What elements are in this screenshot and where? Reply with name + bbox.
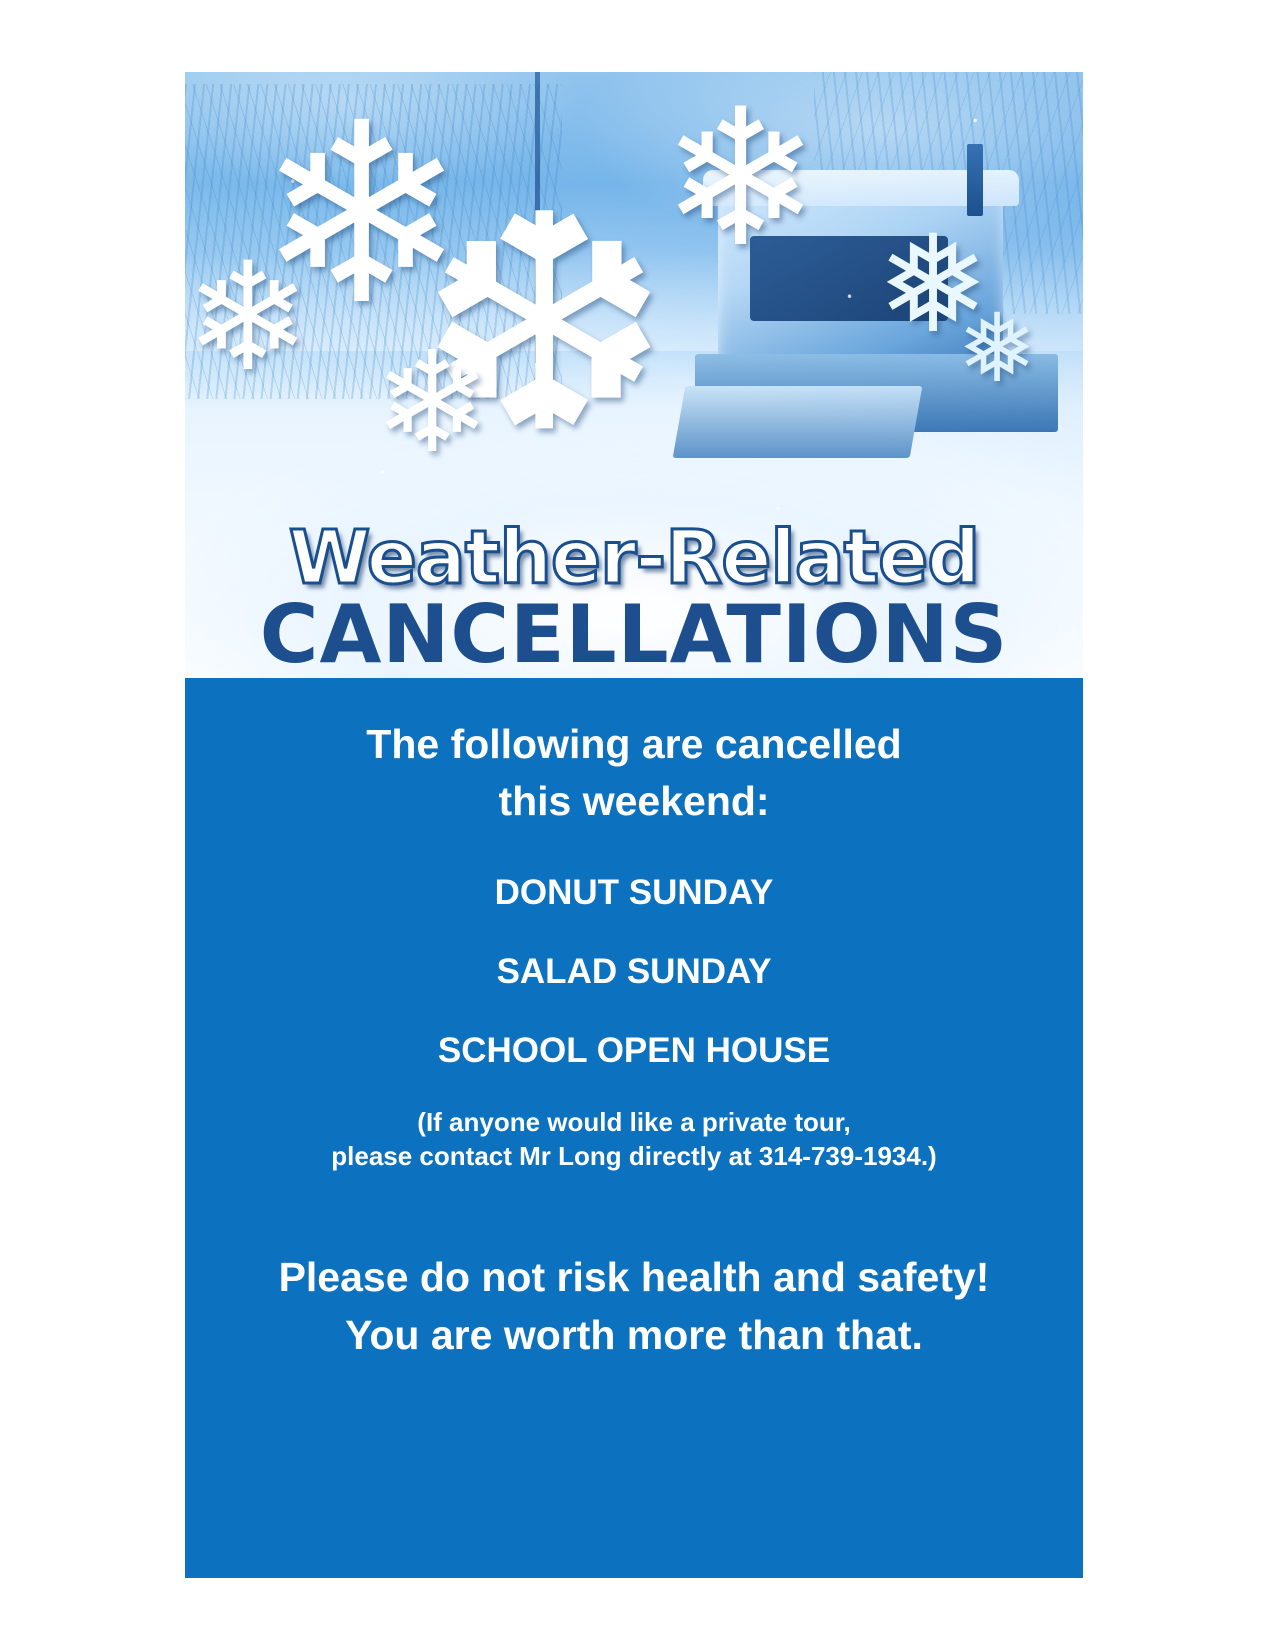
snowflake-icon: ❄ bbox=[661, 84, 820, 274]
list-item: SALAD SUNDAY bbox=[215, 954, 1053, 989]
banner-subtitle: CANCELLATIONS bbox=[199, 594, 1069, 676]
lead-line-1: The following are cancelled bbox=[366, 721, 901, 767]
announcement-panel: The following are cancelled this weekend… bbox=[185, 678, 1083, 1578]
list-item: DONUT SUNDAY bbox=[215, 875, 1053, 910]
cancelled-events-list: DONUT SUNDAY SALAD SUNDAY SCHOOL OPEN HO… bbox=[215, 875, 1053, 1068]
snowflake-icon: ❄ bbox=[185, 242, 311, 392]
closing-line-2: You are worth more than that. bbox=[215, 1306, 1053, 1364]
snowflake-icon: ❄ bbox=[374, 333, 491, 473]
banner-text-block: Weather-Related CANCELLATIONS bbox=[185, 522, 1083, 676]
closing-line-1: Please do not risk health and safety! bbox=[279, 1254, 990, 1300]
list-item: SCHOOL OPEN HOUSE bbox=[215, 1033, 1053, 1068]
private-tour-note: (If anyone would like a private tour, pl… bbox=[215, 1106, 1053, 1174]
lead-text: The following are cancelled this weekend… bbox=[215, 716, 1053, 829]
winter-banner-image: ❄ ❆ ❄ ❄ ❄ ❅ ❅ Weather-Related CANCELLATI… bbox=[185, 72, 1083, 678]
flyer-page: ❄ ❆ ❄ ❄ ❄ ❅ ❅ Weather-Related CANCELLATI… bbox=[0, 0, 1275, 1650]
weather-cancellation-flyer: ❄ ❆ ❄ ❄ ❄ ❅ ❅ Weather-Related CANCELLATI… bbox=[185, 72, 1083, 1578]
snowflake-icon: ❅ bbox=[957, 302, 1037, 397]
closing-message: Please do not risk health and safety! Yo… bbox=[215, 1248, 1053, 1364]
note-line-1: (If anyone would like a private tour, bbox=[417, 1107, 850, 1137]
banner-headline: Weather-Related bbox=[199, 522, 1069, 595]
lead-line-2: this weekend: bbox=[215, 773, 1053, 830]
note-line-2: please contact Mr Long directly at 314-7… bbox=[215, 1140, 1053, 1174]
